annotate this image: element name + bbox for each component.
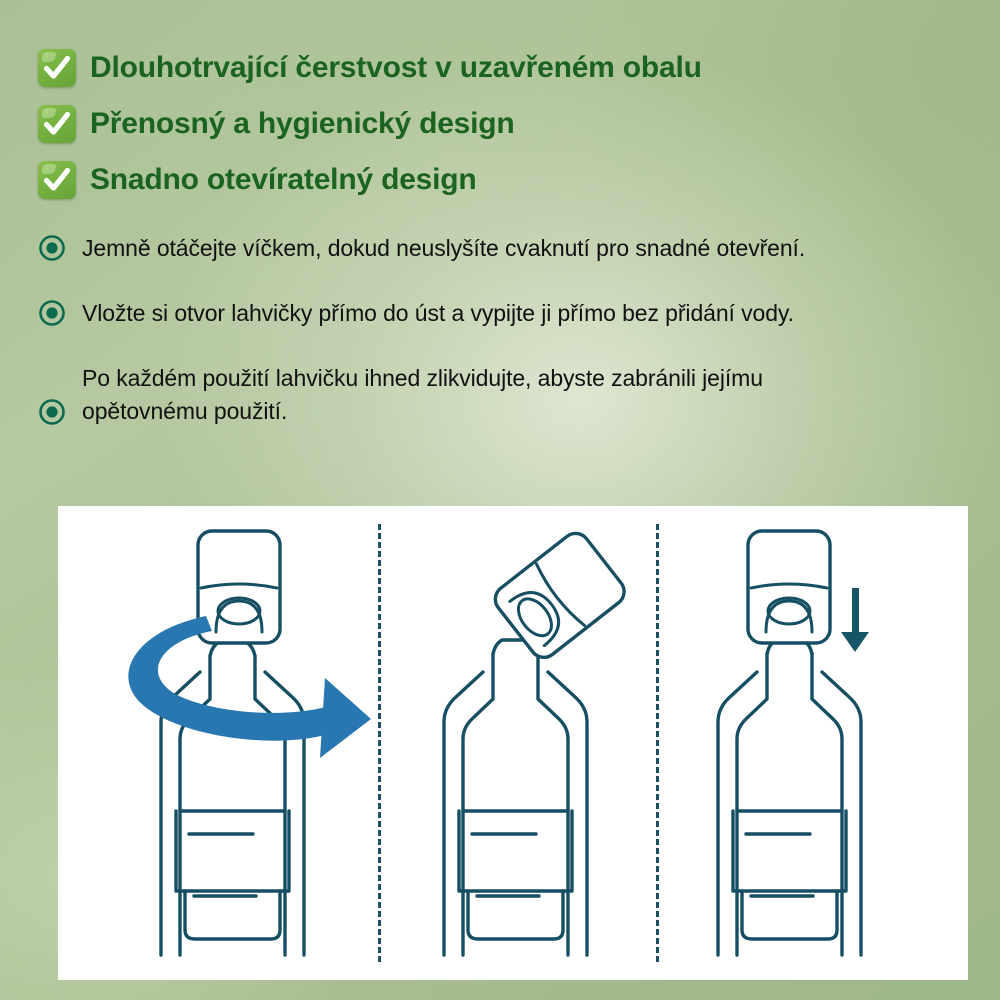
- instruction-item: Vložte si otvor lahvičky přímo do úst a …: [38, 297, 988, 330]
- twist-cap-step: [88, 506, 378, 980]
- close-cap-step: [668, 506, 958, 980]
- check-square-icon: [38, 49, 76, 87]
- down-arrow-icon: [841, 588, 869, 652]
- instruction-text: Jemně otáčejte víčkem, dokud neuslyšíte …: [82, 232, 805, 265]
- instruction-text-block: Po každém použití lahvičku ihned zlikvid…: [82, 362, 763, 428]
- feature-item: Přenosný a hygienický design: [38, 96, 978, 152]
- feature-label: Dlouhotrvající čerstvost v uzavřeném oba…: [90, 53, 702, 83]
- feature-label: Přenosný a hygienický design: [90, 109, 515, 139]
- instruction-item: Jemně otáčejte víčkem, dokud neuslyšíte …: [38, 232, 988, 265]
- feature-item: Snadno otevíratelný design: [38, 152, 978, 208]
- check-square-icon: [38, 161, 76, 199]
- instruction-item: Po každém použití lahvičku ihned zlikvid…: [38, 362, 988, 428]
- instruction-text: Vložte si otvor lahvičky přímo do úst a …: [82, 297, 794, 330]
- feature-item: Dlouhotrvající čerstvost v uzavřeném oba…: [38, 40, 978, 96]
- radio-dot-icon: [38, 398, 66, 426]
- radio-dot-icon: [38, 299, 66, 327]
- illustration-panel: [58, 506, 968, 980]
- promo-page: Dlouhotrvající čerstvost v uzavřeném oba…: [0, 0, 1000, 1000]
- remove-cap-step: [388, 506, 658, 980]
- check-square-icon: [38, 105, 76, 143]
- instruction-text-line2: opětovnému použití.: [82, 395, 763, 428]
- radio-dot-icon: [38, 234, 66, 262]
- feature-label: Snadno otevíratelný design: [90, 165, 477, 195]
- feature-checklist: Dlouhotrvající čerstvost v uzavřeném oba…: [38, 40, 978, 208]
- instruction-list: Jemně otáčejte víčkem, dokud neuslyšíte …: [38, 232, 988, 428]
- step-divider: [378, 524, 381, 962]
- instruction-text-line1: Po každém použití lahvičku ihned zlikvid…: [82, 365, 763, 391]
